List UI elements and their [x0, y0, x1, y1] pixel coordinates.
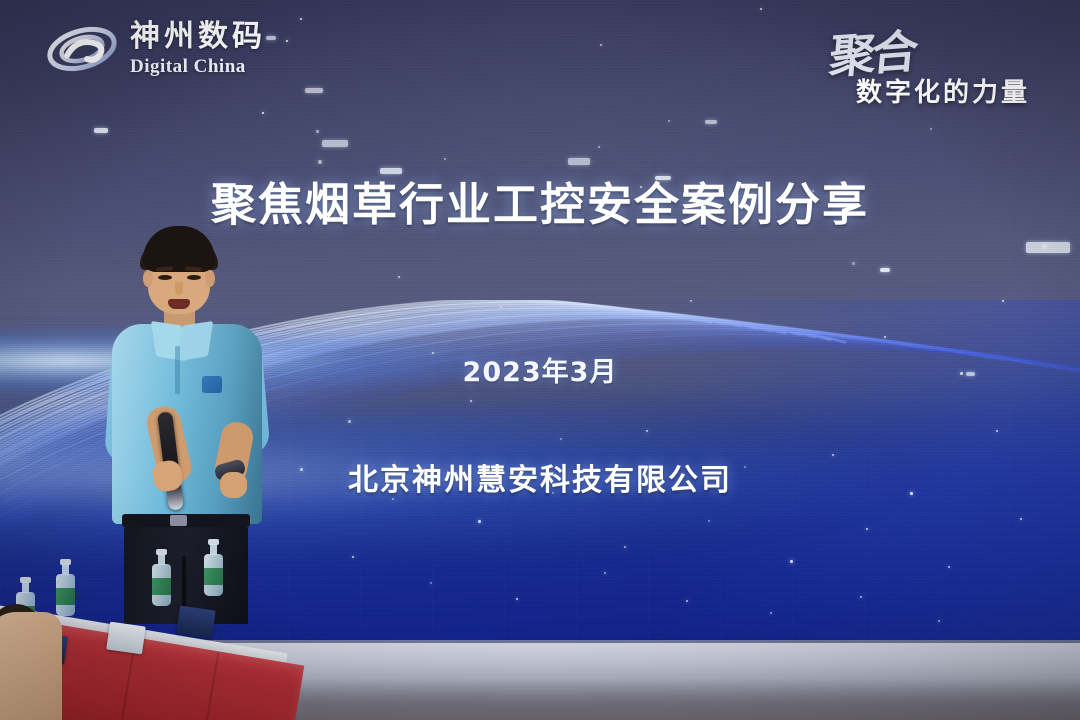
name-card — [176, 606, 216, 639]
speaker-right-hand — [220, 472, 247, 498]
speaker-ear-left — [143, 270, 153, 287]
speaker-ear-right — [205, 270, 215, 287]
speaker-shirt-placket — [175, 346, 180, 394]
speaker-hair — [143, 226, 215, 272]
water-bottle — [152, 564, 171, 606]
theme-logo: 聚合 数字化的力量 — [808, 14, 1058, 114]
speaker-chest-logo-icon — [202, 376, 222, 393]
speaker-belt-buckle — [170, 515, 187, 526]
speaker-eye-left — [158, 275, 172, 280]
digital-china-swirl-icon — [46, 18, 118, 80]
conference-photo: 聚焦烟草行业工控安全案例分享 2023年3月 北京神州慧安科技有限公司 — [0, 0, 1080, 720]
slide-title: 聚焦烟草行业工控安全案例分享 — [0, 182, 1080, 227]
speaker-eye-right — [187, 275, 201, 280]
brand-wordmark: 神州数码 Digital China — [130, 22, 266, 76]
speaker-mouth — [168, 299, 190, 309]
brand-logo: 神州数码 Digital China — [46, 18, 266, 80]
theme-subtitle: 数字化的力量 — [856, 72, 1030, 109]
water-bottle — [204, 554, 223, 596]
speaker-nose — [175, 282, 183, 295]
name-card — [106, 622, 146, 655]
water-bottle — [56, 574, 75, 616]
brand-name-en: Digital China — [130, 57, 266, 76]
audience-member — [0, 612, 62, 720]
brand-name-cn: 神州数码 — [130, 22, 266, 52]
